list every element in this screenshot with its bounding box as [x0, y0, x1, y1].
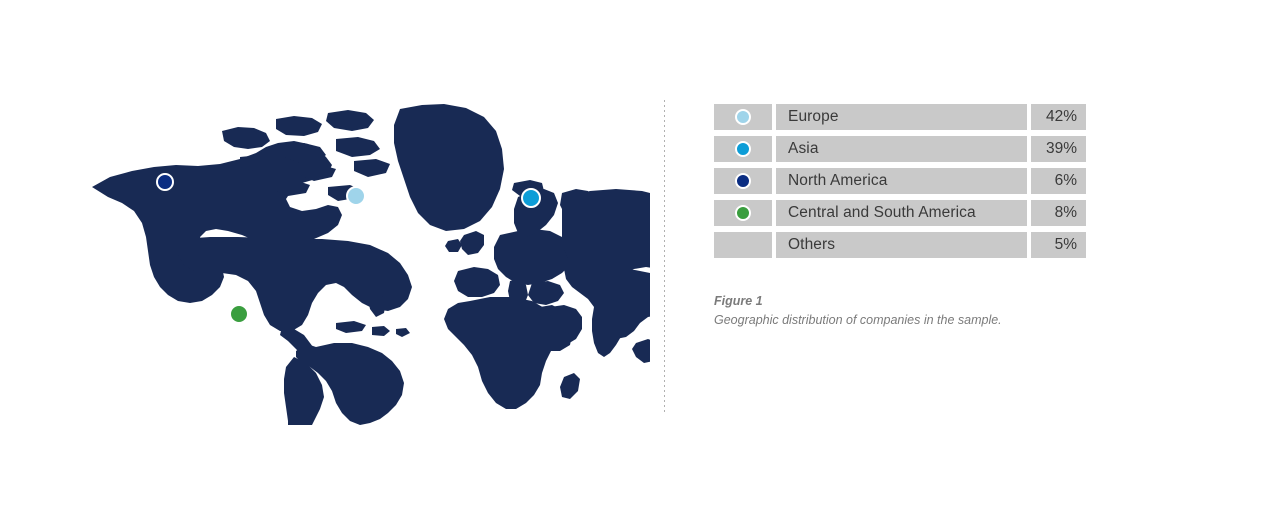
legend-label-europe: Europe [776, 104, 1027, 130]
legend-swatch-cell-asia [714, 136, 772, 162]
legend-value-north-america: 6% [1031, 168, 1086, 194]
world-map-icon [70, 95, 650, 425]
figure-caption-title: Figure 1 [714, 292, 1134, 311]
legend-value-others: 5% [1031, 232, 1086, 258]
map-marker-central-south-america[interactable] [229, 304, 249, 324]
figure-caption-text: Geographic distribution of companies in … [714, 311, 1134, 330]
legend-table: Europe 42% Asia 39% North America 6% Cen… [714, 104, 1086, 258]
circle-swatch-icon-others [735, 237, 751, 253]
map-marker-europe[interactable] [346, 186, 366, 206]
legend-row-north-america: North America 6% [714, 168, 1086, 194]
legend-row-central-south-america: Central and South America 8% [714, 200, 1086, 226]
circle-swatch-icon-north-america [735, 173, 751, 189]
legend-swatch-cell-north-america [714, 168, 772, 194]
legend-row-others: Others 5% [714, 232, 1086, 258]
legend-label-others: Others [776, 232, 1027, 258]
legend-swatch-cell-central-south-america [714, 200, 772, 226]
figure-caption: Figure 1 Geographic distribution of comp… [714, 292, 1134, 331]
legend-label-central-south-america: Central and South America [776, 200, 1027, 226]
legend-swatch-cell-europe [714, 104, 772, 130]
map-marker-north-america[interactable] [156, 173, 174, 191]
map-marker-asia[interactable] [521, 188, 541, 208]
circle-swatch-icon-central-south-america [735, 205, 751, 221]
world-map-panel [70, 95, 650, 425]
legend-row-asia: Asia 39% [714, 136, 1086, 162]
legend-swatch-cell-others [714, 232, 772, 258]
circle-swatch-icon-europe [735, 109, 751, 125]
vertical-dotted-divider [664, 100, 665, 412]
legend-value-asia: 39% [1031, 136, 1086, 162]
legend-label-north-america: North America [776, 168, 1027, 194]
circle-swatch-icon-asia [735, 141, 751, 157]
legend-value-central-south-america: 8% [1031, 200, 1086, 226]
legend-row-europe: Europe 42% [714, 104, 1086, 130]
legend-value-europe: 42% [1031, 104, 1086, 130]
legend-label-asia: Asia [776, 136, 1027, 162]
